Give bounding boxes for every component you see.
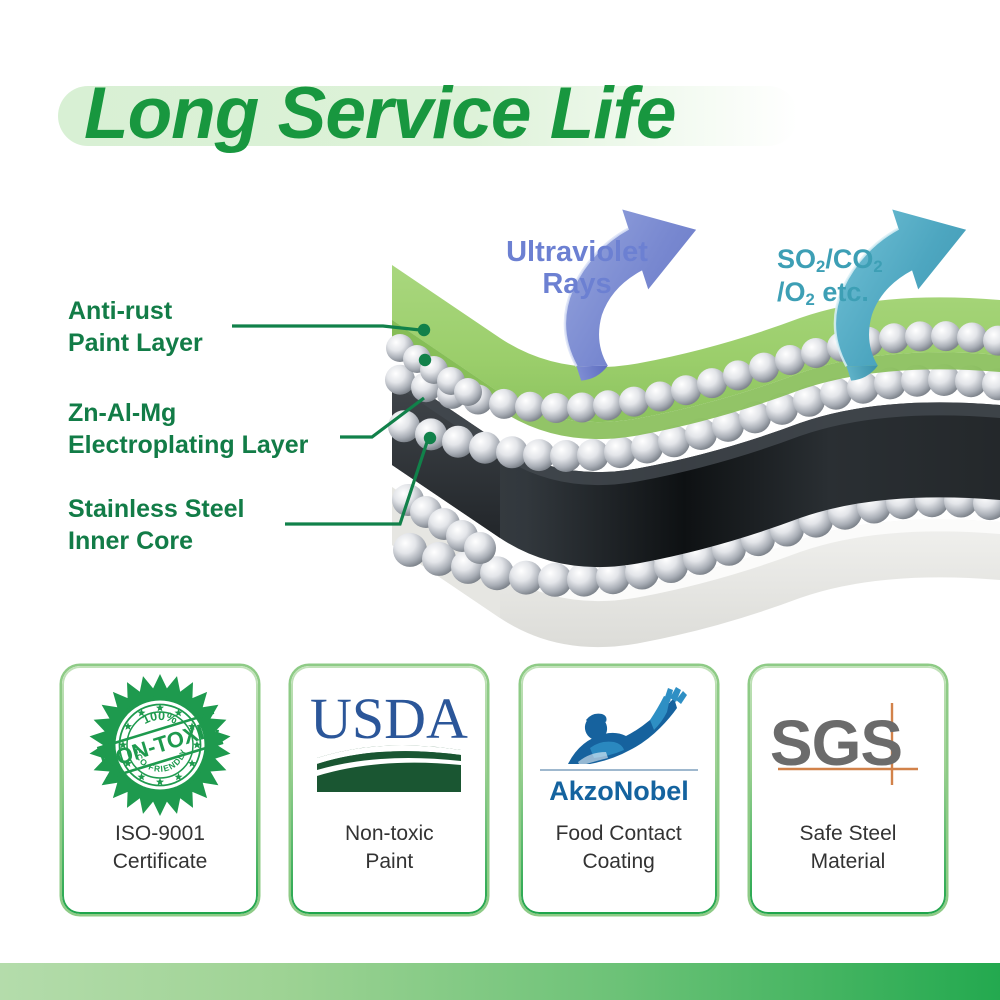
infographic-canvas: Long Service Life [0, 0, 1000, 1000]
metal-sphere [538, 563, 572, 597]
metal-sphere [469, 432, 501, 464]
label-zn-al-mg-electroplating-layer: Zn-Al-Mg Electroplating Layer [68, 398, 308, 462]
cert-card-food-contact-coating[interactable]: AkzoNobel Food Contact Coating [521, 666, 717, 914]
gas-etc: etc. [815, 277, 869, 307]
leader-dot-zn [419, 354, 431, 366]
metal-sphere [489, 389, 519, 419]
metal-sphere [567, 563, 601, 597]
cert-caption-food-contact-coating: Food Contact Coating [556, 820, 682, 876]
metal-sphere [454, 378, 482, 406]
cert-caption-safe-steel-material: Safe Steel Material [800, 820, 897, 876]
sgs-wordmark: SGS [770, 707, 902, 779]
gas-co-sub: 2 [873, 257, 882, 276]
akzonobel-wordmark: AkzoNobel [549, 776, 689, 806]
metal-sphere [593, 390, 623, 420]
metal-sphere [388, 410, 420, 442]
label-gas-resistance: SO2/CO2 /O2 etc. [777, 244, 937, 310]
uv-line-2: Rays [497, 268, 657, 300]
metal-sphere [509, 561, 543, 595]
metal-sphere [820, 378, 852, 410]
metal-sphere [905, 321, 935, 351]
metal-sphere [749, 353, 779, 383]
metal-sphere [697, 368, 727, 398]
gas-co: /CO [825, 244, 873, 274]
gas-so: SO [777, 244, 816, 274]
uv-line-1: Ultraviolet [497, 236, 657, 268]
usda-logo-icon: USDA [291, 666, 487, 818]
metal-sphere [723, 360, 753, 390]
metal-sphere [671, 375, 701, 405]
gas-line-1: SO2/CO2 [777, 244, 937, 277]
metal-sphere [957, 323, 987, 353]
metal-sphere [541, 393, 571, 423]
metal-sphere [442, 426, 474, 458]
cert-card-safe-steel-material[interactable]: SGS Safe Steel Material [750, 666, 946, 914]
metal-sphere [464, 532, 496, 564]
cert-caption-iso-9001: ISO-9001 Certificate [113, 820, 208, 876]
leader-line-paint [232, 326, 420, 330]
metal-sphere [775, 345, 805, 375]
metal-sphere [393, 533, 427, 567]
metal-sphere [801, 338, 831, 368]
label-stainless-steel-inner-core: Stainless Steel Inner Core [68, 494, 244, 558]
leader-dot-steel [424, 432, 436, 444]
certification-card-row: 100% NON-TOXIC ECO FRIENDLY ISO-9001 Cer… [62, 666, 946, 914]
gas-line-2: /O2 etc. [777, 277, 937, 310]
metal-sphere [879, 323, 909, 353]
akzonobel-logo-icon: AkzoNobel [521, 666, 717, 818]
sgs-logo-icon: SGS [750, 666, 946, 818]
gas-o: /O [777, 277, 806, 307]
metal-sphere [619, 387, 649, 417]
metal-sphere [496, 436, 528, 468]
metal-sphere [645, 382, 675, 412]
cert-caption-non-toxic-paint: Non-toxic Paint [345, 820, 434, 876]
metal-sphere [577, 439, 609, 471]
label-anti-rust-paint-layer: Anti-rust Paint Layer [68, 296, 203, 360]
gas-so-sub: 2 [816, 257, 825, 276]
metal-sphere [604, 436, 636, 468]
gas-o-sub: 2 [806, 290, 815, 309]
cert-card-non-toxic-paint[interactable]: USDA Non-toxic Paint [291, 666, 487, 914]
metal-sphere [931, 321, 961, 351]
metal-sphere [631, 432, 663, 464]
non-toxic-stamp-icon: 100% NON-TOXIC ECO FRIENDLY [62, 666, 258, 818]
usda-wordmark: USDA [310, 686, 468, 751]
metal-sphere [515, 392, 545, 422]
cert-card-iso-9001[interactable]: 100% NON-TOXIC ECO FRIENDLY ISO-9001 Cer… [62, 666, 258, 914]
label-ultraviolet-rays: Ultraviolet Rays [497, 236, 657, 301]
metal-sphere [567, 393, 597, 423]
leader-dot-paint [418, 324, 430, 336]
footer-gradient-bar [0, 963, 1000, 1000]
